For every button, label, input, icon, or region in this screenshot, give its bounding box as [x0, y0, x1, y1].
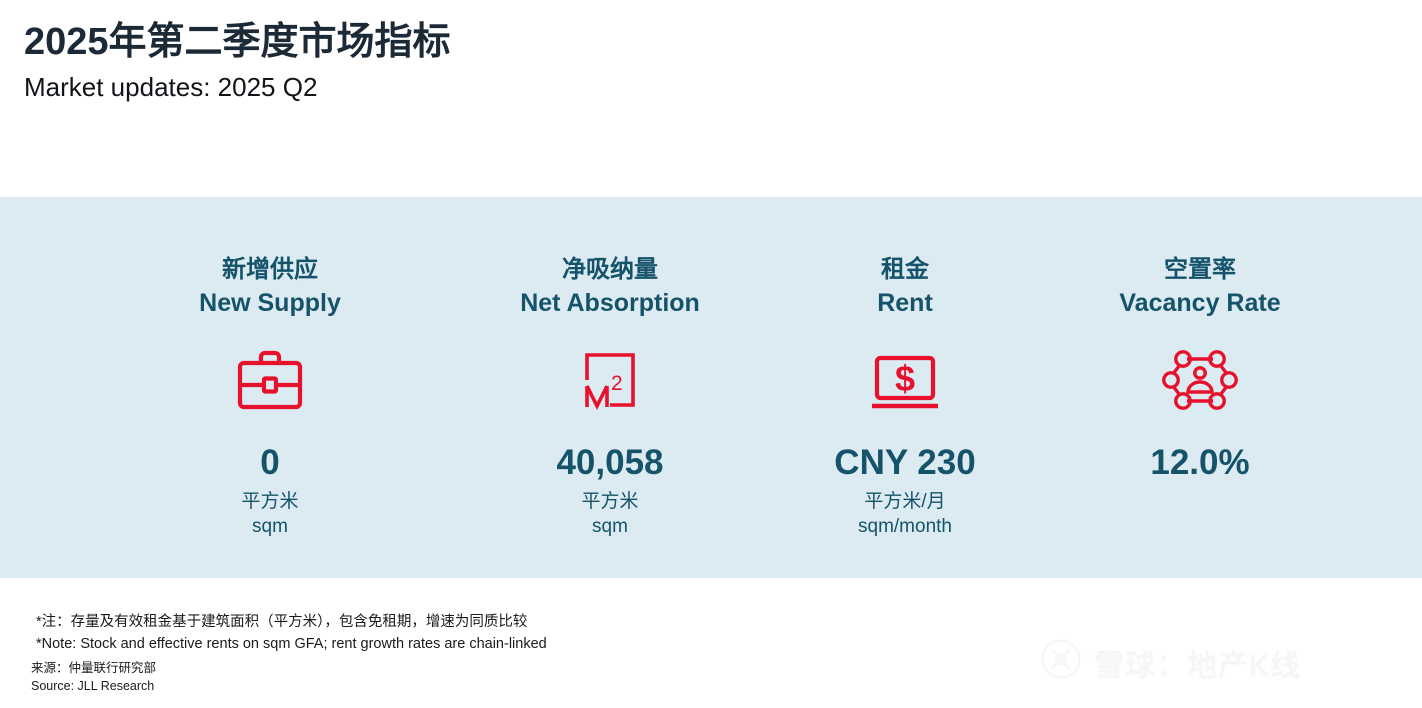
source-zh: 来源：仲量联行研究部 — [31, 659, 156, 677]
metric-label-en: Rent — [877, 288, 933, 318]
footnote-en: *Note: Stock and effective rents on sqm … — [36, 634, 547, 656]
metric-unit-en: sqm/month — [858, 514, 952, 540]
footnote-block: *注：存量及有效租金基于建筑面积（平方米），包含免租期，增速为同质比较 *Not… — [36, 612, 547, 656]
metrics-row: 新增供应 New Supply 0 平方米 sqm 净吸纳量 Net Absor… — [0, 197, 1422, 578]
laptop-dollar-icon: $ — [862, 344, 948, 416]
metric-value: 12.0% — [1150, 444, 1249, 483]
metric-value: CNY 230 — [834, 444, 975, 483]
metric-label-zh: 新增供应 — [222, 255, 318, 285]
metric-value: 40,058 — [556, 444, 663, 483]
source-block: 来源：仲量联行研究部 Source: JLL Research — [31, 659, 156, 695]
page-header: 2025年第二季度市场指标 Market updates: 2025 Q2 — [24, 22, 1394, 103]
metric-card-new-supply: 新增供应 New Supply 0 平方米 sqm — [80, 197, 460, 540]
metric-label-zh: 净吸纳量 — [562, 255, 658, 285]
metric-unit-zh: 平方米 — [581, 489, 638, 515]
metric-label-zh: 租金 — [881, 255, 929, 285]
metric-card-net-absorption: 净吸纳量 Net Absorption 2 40,058 平方米 sqm — [460, 197, 760, 540]
metric-label-zh: 空置率 — [1164, 255, 1236, 285]
metrics-panel: 新增供应 New Supply 0 平方米 sqm 净吸纳量 Net Absor… — [0, 197, 1422, 578]
metric-label-en: Vacancy Rate — [1119, 288, 1280, 318]
page-title: 2025年第二季度市场指标 — [24, 22, 1394, 64]
network-people-icon — [1160, 344, 1240, 416]
page-subtitle: Market updates: 2025 Q2 — [24, 72, 1394, 103]
metric-unit-en: sqm — [252, 514, 288, 540]
briefcase-icon — [230, 344, 310, 416]
metric-card-rent: 租金 Rent $ CNY 230 平方米/月 sqm/month — [760, 197, 1050, 540]
watermark-text: 雪球：地产K线 — [1094, 640, 1301, 684]
metric-unit-zh: 平方米 — [241, 489, 298, 515]
xueqiu-logo-icon — [1040, 638, 1082, 685]
footnote-zh: *注：存量及有效租金基于建筑面积（平方米），包含免租期，增速为同质比较 — [36, 612, 547, 634]
metric-unit-zh: 平方米/月 — [864, 489, 945, 515]
square-meter-icon: 2 — [570, 344, 650, 416]
metric-label-en: Net Absorption — [520, 288, 700, 318]
source-en: Source: JLL Research — [31, 677, 156, 695]
watermark: 雪球：地产K线 — [1040, 638, 1301, 685]
metric-unit-en: sqm — [592, 514, 628, 540]
svg-text:2: 2 — [611, 372, 623, 395]
metric-label-en: New Supply — [199, 288, 341, 318]
metric-card-vacancy-rate: 空置率 Vacancy Rate — [1050, 197, 1350, 483]
metric-value: 0 — [260, 444, 279, 483]
svg-text:$: $ — [895, 358, 915, 399]
